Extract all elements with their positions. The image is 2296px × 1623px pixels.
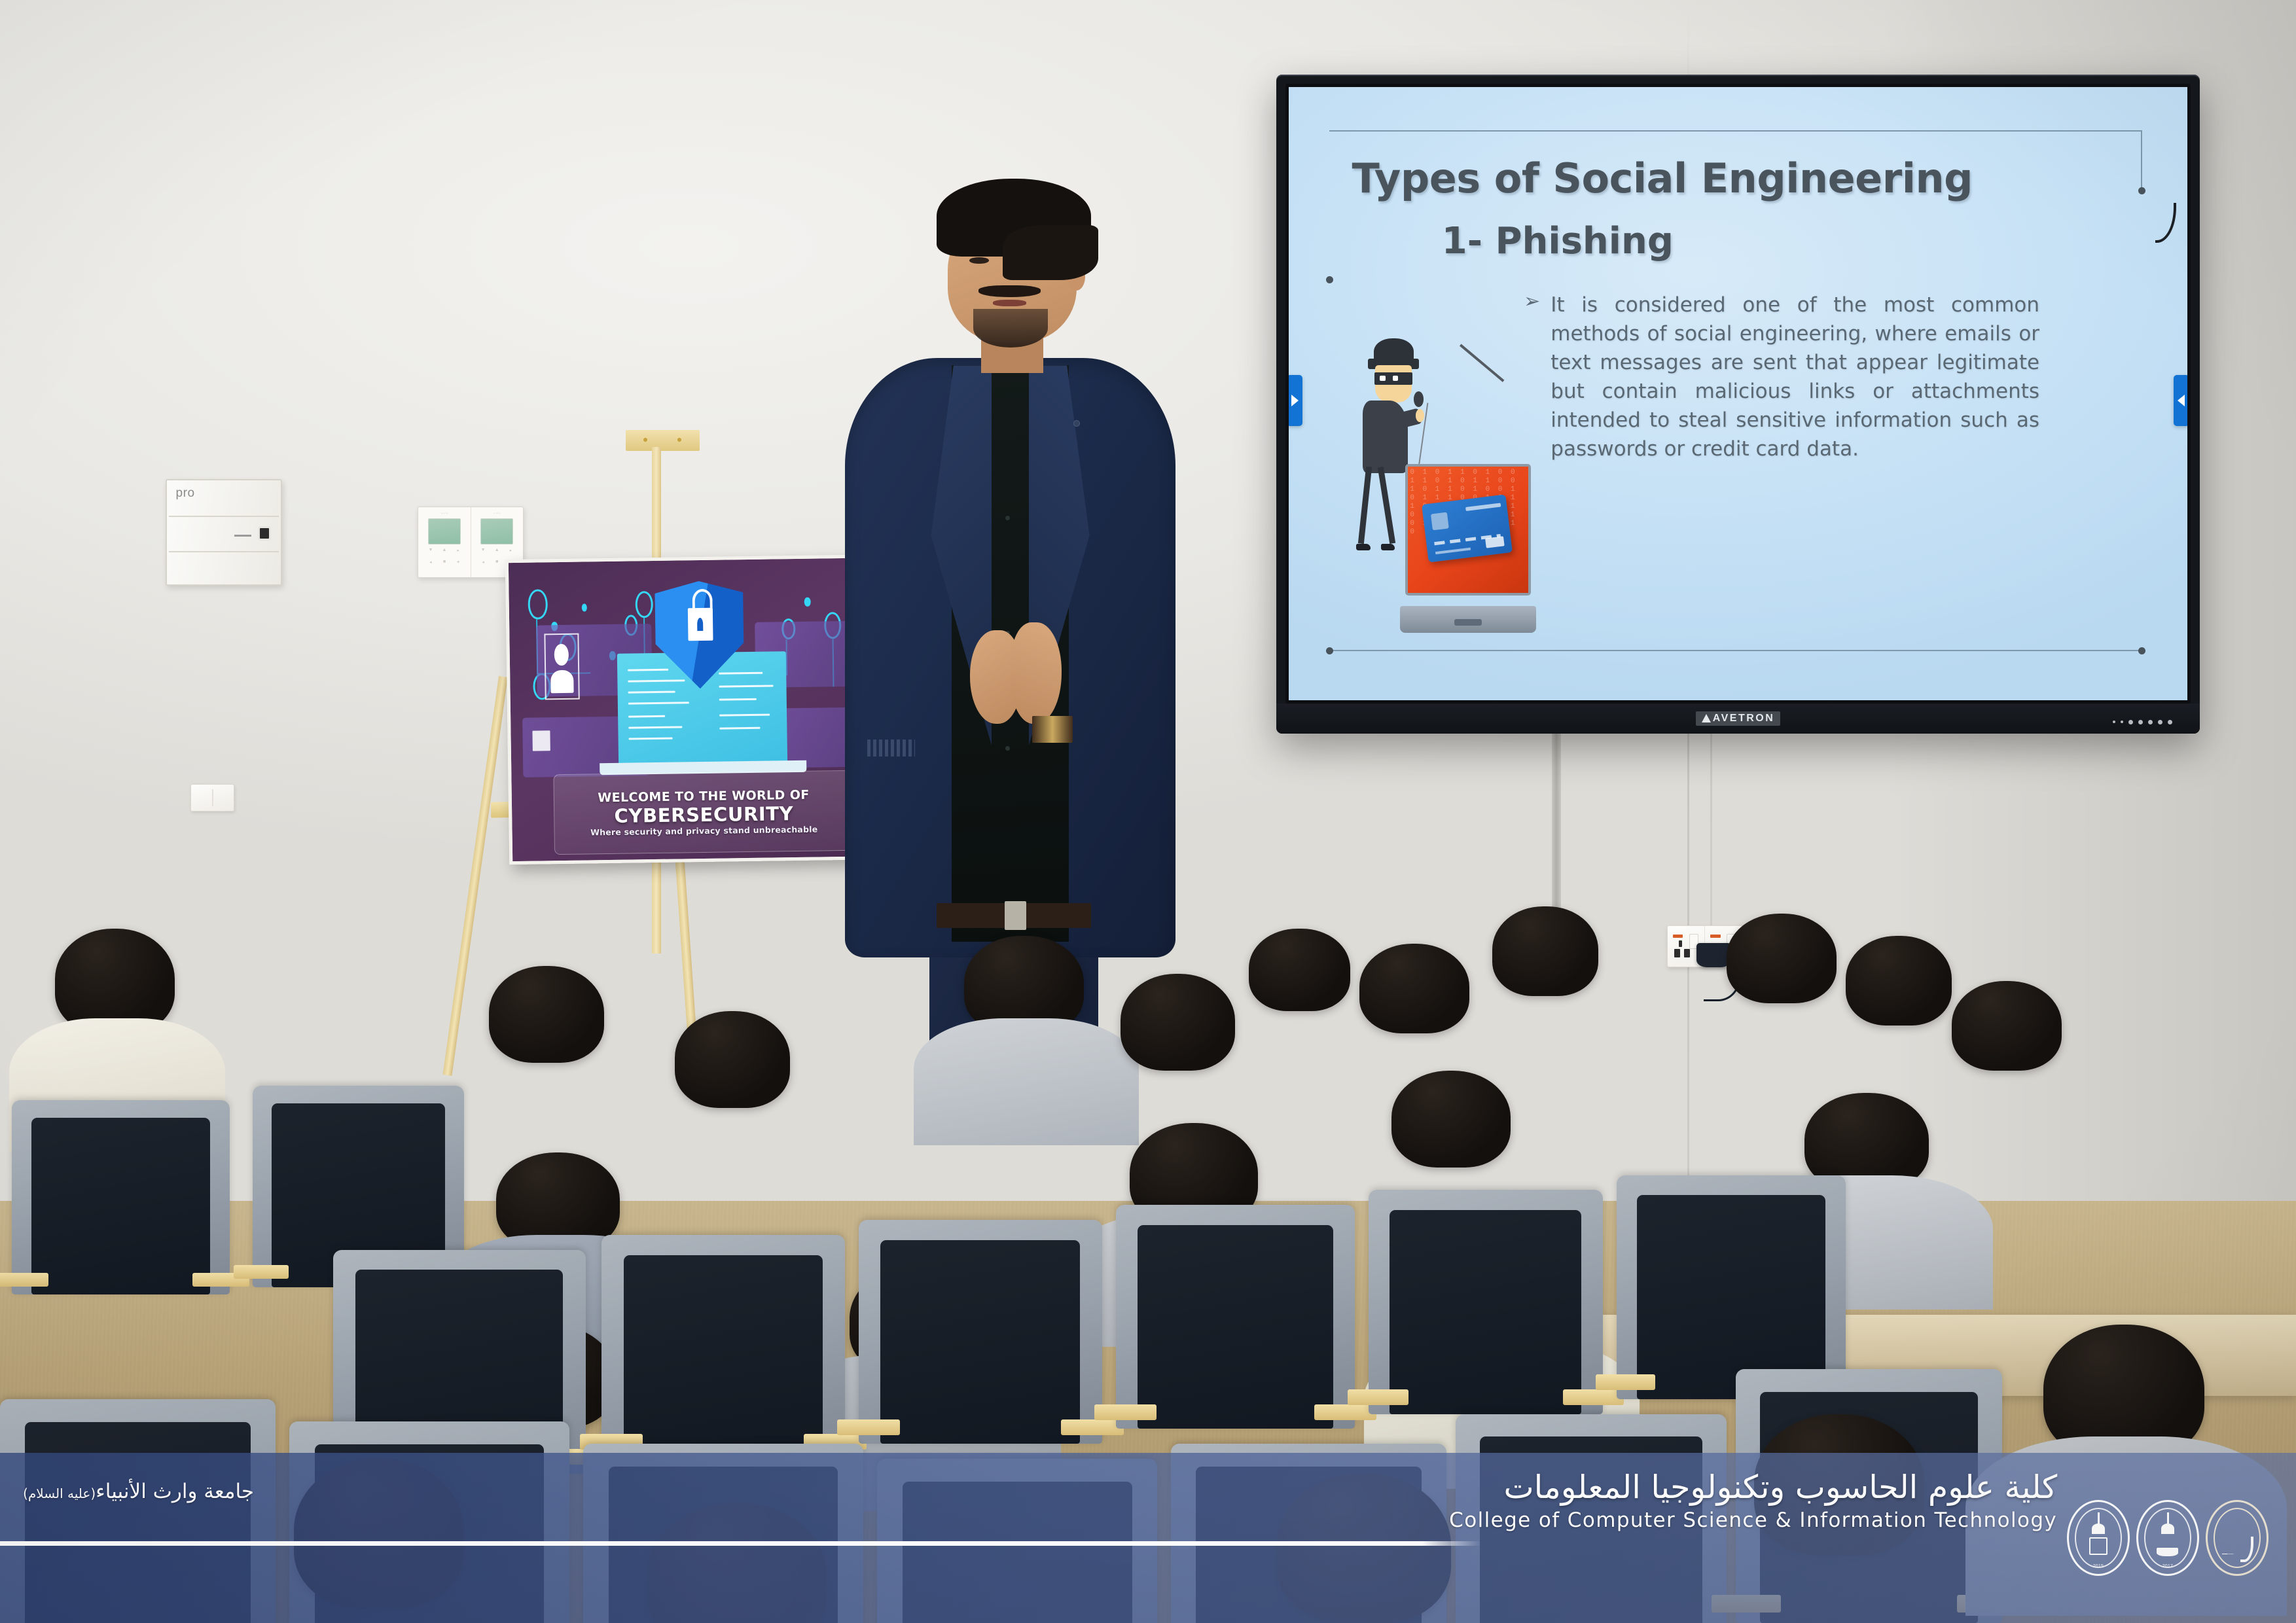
- lecture-presenter: [827, 179, 1194, 957]
- display-brand-label: AVETRON: [1713, 713, 1775, 724]
- audience-head: [1249, 929, 1350, 1010]
- lecture-seat: [601, 1235, 845, 1459]
- phishing-thief-illustration: 0 1 0 1 1 0 1 0 0 1 1 0 1 0 1 1 0 0 1 0 …: [1334, 332, 1541, 639]
- display-brand-plate: AVETRON: [1696, 711, 1781, 726]
- laptop-icon: 0 1 0 1 1 0 1 0 0 1 1 0 1 0 1 1 0 0 1 0 …: [1400, 464, 1536, 633]
- audience-head: [55, 929, 174, 1033]
- jacket-lapel-pin: [1073, 420, 1080, 427]
- avetron-triangle-logo: [1702, 714, 1711, 722]
- university-honorific: (عليه السلام): [23, 1486, 96, 1501]
- college-name-block: كلية علوم الحاسوب وتكنولوجيا المعلومات C…: [1449, 1470, 2057, 1532]
- slide-subtitle: 1- Phishing: [1442, 220, 2134, 262]
- display-bottom-bezel: AVETRON: [1276, 704, 2199, 734]
- display-ir-sensor: [2113, 720, 2172, 724]
- padlock-icon: [688, 607, 713, 641]
- audience-head: [1121, 974, 1235, 1071]
- screenshot-root: pro ····· ▼▲▸◂■✦ ····· ▼▲▸◂■✦: [0, 0, 2296, 1623]
- lecture-seat: [1369, 1190, 1603, 1414]
- panel-box-latch[interactable]: [258, 526, 271, 541]
- college-name-ar: كلية علوم الحاسوب وتكنولوجيا المعلومات: [1449, 1470, 2057, 1506]
- poster-headline-block: WELCOME TO THE WORLD OF CYBERSECURITY Wh…: [554, 770, 854, 855]
- lecture-seat: [12, 1100, 230, 1294]
- ministry-of-higher-education-seal: [2206, 1500, 2269, 1576]
- audience-head: [1846, 936, 1951, 1026]
- warith-al-anbiyaa-university-seal: 2017: [2136, 1500, 2199, 1576]
- audience-shoulders: [914, 1018, 1139, 1145]
- slide-body-text: It is considered one of the most common …: [1551, 291, 2039, 463]
- audience-head: [489, 966, 603, 1063]
- credit-card-icon: [1422, 495, 1512, 563]
- banner-rule: [0, 1541, 1481, 1546]
- thermostat-unit-1[interactable]: ····· ▼▲▸◂■✦: [418, 507, 471, 577]
- thermostat-keypad[interactable]: ▼▲▸◂■✦: [423, 548, 465, 571]
- audience-head: [1492, 906, 1598, 996]
- display-screen[interactable]: Types of Social Engineering 1- Phishing …: [1289, 87, 2187, 700]
- lecture-seat: [1116, 1205, 1355, 1429]
- audience-head: [1359, 944, 1469, 1033]
- seal-year: 2015: [2093, 1564, 2104, 1569]
- audience-head: [1952, 981, 2062, 1071]
- poster-headline-line2: CYBERSECURITY: [615, 802, 794, 827]
- banner-logo-row: 2015 2017: [2067, 1500, 2269, 1576]
- presenter-right-hand: [1011, 622, 1062, 724]
- electrical-panel-box: pro: [166, 479, 283, 586]
- audience-head: [675, 1011, 789, 1108]
- college-name-en: College of Computer Science & Informatio…: [1449, 1508, 2057, 1532]
- institution-banner: جامعة وارث الأنبياء(عليه السلام) كلية عل…: [0, 1453, 2296, 1623]
- university-of-warith-al-anbiyaa-seal: 2015: [2067, 1500, 2130, 1576]
- lecture-seat: [1617, 1175, 1846, 1399]
- lecture-seat: [859, 1220, 1102, 1444]
- wristwatch: [1032, 716, 1073, 742]
- slide-title: Types of Social Engineering: [1352, 154, 2133, 202]
- user-avatar-icon: [544, 633, 579, 700]
- bullet-arrow-icon: ➢: [1524, 291, 1540, 313]
- seal-year: 2017: [2162, 1564, 2173, 1569]
- wall-light-switch[interactable]: [190, 784, 234, 811]
- panel-box-dash: [234, 535, 251, 537]
- audience-head: [1727, 914, 1837, 1003]
- university-name-ar: جامعة وارث الأنبياء(عليه السلام): [23, 1480, 254, 1503]
- panel-box-label: pro: [176, 486, 195, 501]
- thermostat-lcd: [428, 518, 461, 544]
- interactive-display[interactable]: Types of Social Engineering 1- Phishing …: [1276, 75, 2199, 734]
- audience-head: [1391, 1071, 1511, 1168]
